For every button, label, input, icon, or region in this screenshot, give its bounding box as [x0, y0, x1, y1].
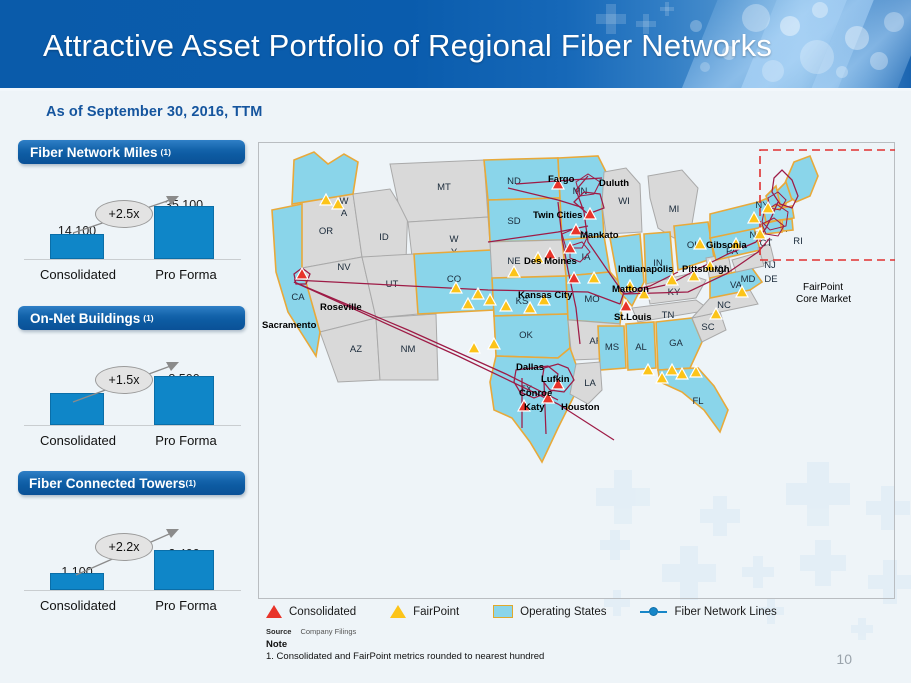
- legend-label: Fiber Network Lines: [674, 606, 776, 618]
- state-label-ms: MS: [605, 342, 619, 353]
- multiplier-badge-fiber-connected-towers: +2.2x: [95, 533, 153, 561]
- panel-fiber-network-miles: Fiber Network Miles(1) +2.5x 14,100 35,1…: [18, 140, 245, 284]
- chart-on-net-buildings: +1.5x 5,500 8,500 Consolidated Pro Forma: [18, 354, 245, 450]
- multiplier-badge-fiber-network-miles: +2.5x: [95, 200, 153, 228]
- state-label-de: DE: [764, 274, 777, 285]
- state-label-ok: OK: [519, 330, 533, 341]
- state-label-al: AL: [635, 342, 647, 353]
- panel-title-fiber-connected-towers: Fiber Connected Towers(1): [18, 471, 245, 495]
- state-label-nv: NV: [337, 262, 351, 273]
- city-label-dallas: Dallas: [516, 362, 544, 373]
- note-text: 1. Consolidated and FairPoint metrics ro…: [266, 651, 544, 662]
- header-plus-icon: [660, 2, 674, 16]
- legend-label: Consolidated: [289, 606, 356, 618]
- state-label-mi: MI: [669, 204, 680, 215]
- city-label-st-louis: St.Louis: [614, 312, 651, 323]
- state-label-az: AZ: [350, 344, 362, 355]
- state-label-wa2: A: [341, 208, 348, 219]
- chart-fiber-network-miles: +2.5x 14,100 35,100 Consolidated Pro For…: [18, 188, 245, 284]
- chart-fiber-connected-towers: +2.2x 1,100 2,400 Consolidated Pro Forma: [18, 519, 245, 615]
- city-label-sacramento: Sacramento: [262, 320, 317, 331]
- us-fiber-network-map[interactable]: .st-op{fill:#8ad5ea;stroke:#e8a93a;strok…: [258, 142, 895, 599]
- page-number: 10: [836, 651, 852, 667]
- city-label-houston: Houston: [561, 402, 600, 413]
- footnote-marker: (1): [161, 147, 171, 157]
- source-text: Company Filings: [300, 627, 356, 636]
- panel-title-text: On-Net Buildings: [30, 311, 140, 326]
- state-label-la: LA: [584, 378, 596, 389]
- city-label-twin-cities: Twin Cities: [533, 210, 582, 221]
- city-label-roseville: Roseville: [320, 302, 362, 313]
- city-label-gibsonia: Gibsonia: [706, 240, 747, 251]
- city-label-fargo: Fargo: [548, 174, 575, 185]
- footnotes: SourceCompany Filings Note 1. Consolidat…: [266, 627, 544, 662]
- city-label-des-moines: Des Moines: [524, 256, 577, 267]
- triangle-red-icon: [266, 605, 282, 618]
- state-label-wy: W: [450, 234, 459, 245]
- page-title: Attractive Asset Portfolio of Regional F…: [43, 28, 772, 64]
- triangle-yellow-icon: [390, 605, 406, 618]
- city-label-lufkin: Lufkin: [541, 374, 570, 385]
- city-label-kansas-city: Kansas City: [518, 290, 573, 301]
- panel-title-fiber-network-miles: Fiber Network Miles(1): [18, 140, 245, 164]
- city-label-conroe: Conroe: [519, 388, 552, 399]
- state-label-fl: FL: [692, 396, 703, 407]
- header-divider: [0, 88, 911, 91]
- note-label: Note: [266, 639, 544, 650]
- panel-title-text: Fiber Network Miles: [30, 145, 158, 160]
- state-label-sc: SC: [701, 322, 714, 333]
- city-label-duluth: Duluth: [599, 178, 629, 189]
- state-label-ca: CA: [291, 292, 305, 303]
- as-of-subtitle: As of September 30, 2016, TTM: [46, 104, 262, 120]
- panel-on-net-buildings: On-Net Buildings(1) +1.5x 5,500 8,500 Co…: [18, 306, 245, 450]
- city-label-mankato: Mankato: [580, 230, 619, 241]
- state-label-mt: MT: [437, 182, 451, 193]
- map-legend: Consolidated FairPoint Operating States …: [266, 605, 811, 618]
- footnote-marker: (1): [143, 313, 153, 323]
- panel-title-on-net-buildings: On-Net Buildings(1): [18, 306, 245, 330]
- state-label-ia: IA: [582, 252, 592, 263]
- state-label-nm: NM: [401, 344, 416, 355]
- state-label-sd: SD: [507, 216, 520, 227]
- multiplier-badge-on-net-buildings: +1.5x: [95, 366, 153, 394]
- city-label-pittsburgh: Pittsburgh: [682, 264, 730, 275]
- state-label-id: ID: [379, 232, 389, 243]
- inset-label-line1: FairPoint: [803, 282, 843, 293]
- line-dot-icon: [640, 607, 667, 616]
- swatch-icon: [493, 605, 513, 618]
- panel-title-text: Fiber Connected Towers: [29, 476, 186, 491]
- decor-plus-icon: [851, 618, 873, 640]
- footnote-marker: (1): [186, 478, 196, 488]
- legend-item-fairpoint: FairPoint: [390, 605, 459, 618]
- state-label-co: CO: [447, 274, 461, 285]
- panel-fiber-connected-towers: Fiber Connected Towers(1) +2.2x 1,100 2,…: [18, 471, 245, 615]
- state-label-wi: WI: [618, 196, 630, 207]
- legend-item-operating-states: Operating States: [493, 605, 606, 618]
- state-label-ga: GA: [669, 338, 683, 349]
- state-label-nj: NJ: [764, 260, 776, 271]
- state-label-nc: NC: [717, 300, 731, 311]
- state-label-or: OR: [319, 226, 333, 237]
- state-label-tn: TN: [662, 310, 675, 321]
- legend-item-fiber-network-lines: Fiber Network Lines: [640, 606, 776, 618]
- state-label-ri: RI: [793, 236, 803, 247]
- legend-item-consolidated: Consolidated: [266, 605, 356, 618]
- state-ri: [782, 219, 793, 231]
- state-label-nd: ND: [507, 176, 521, 187]
- city-label-katy: Katy: [524, 402, 545, 413]
- city-label-indianapolis: Indianapolis: [618, 264, 673, 275]
- state-label-md: MD: [741, 274, 756, 285]
- legend-label: FairPoint: [413, 606, 459, 618]
- inset-label-line2: Core Market: [796, 294, 851, 305]
- source-label: Source: [266, 627, 291, 636]
- city-label-mattoon: Mattoon: [612, 284, 649, 295]
- source-line: SourceCompany Filings: [266, 627, 544, 636]
- legend-label: Operating States: [520, 606, 606, 618]
